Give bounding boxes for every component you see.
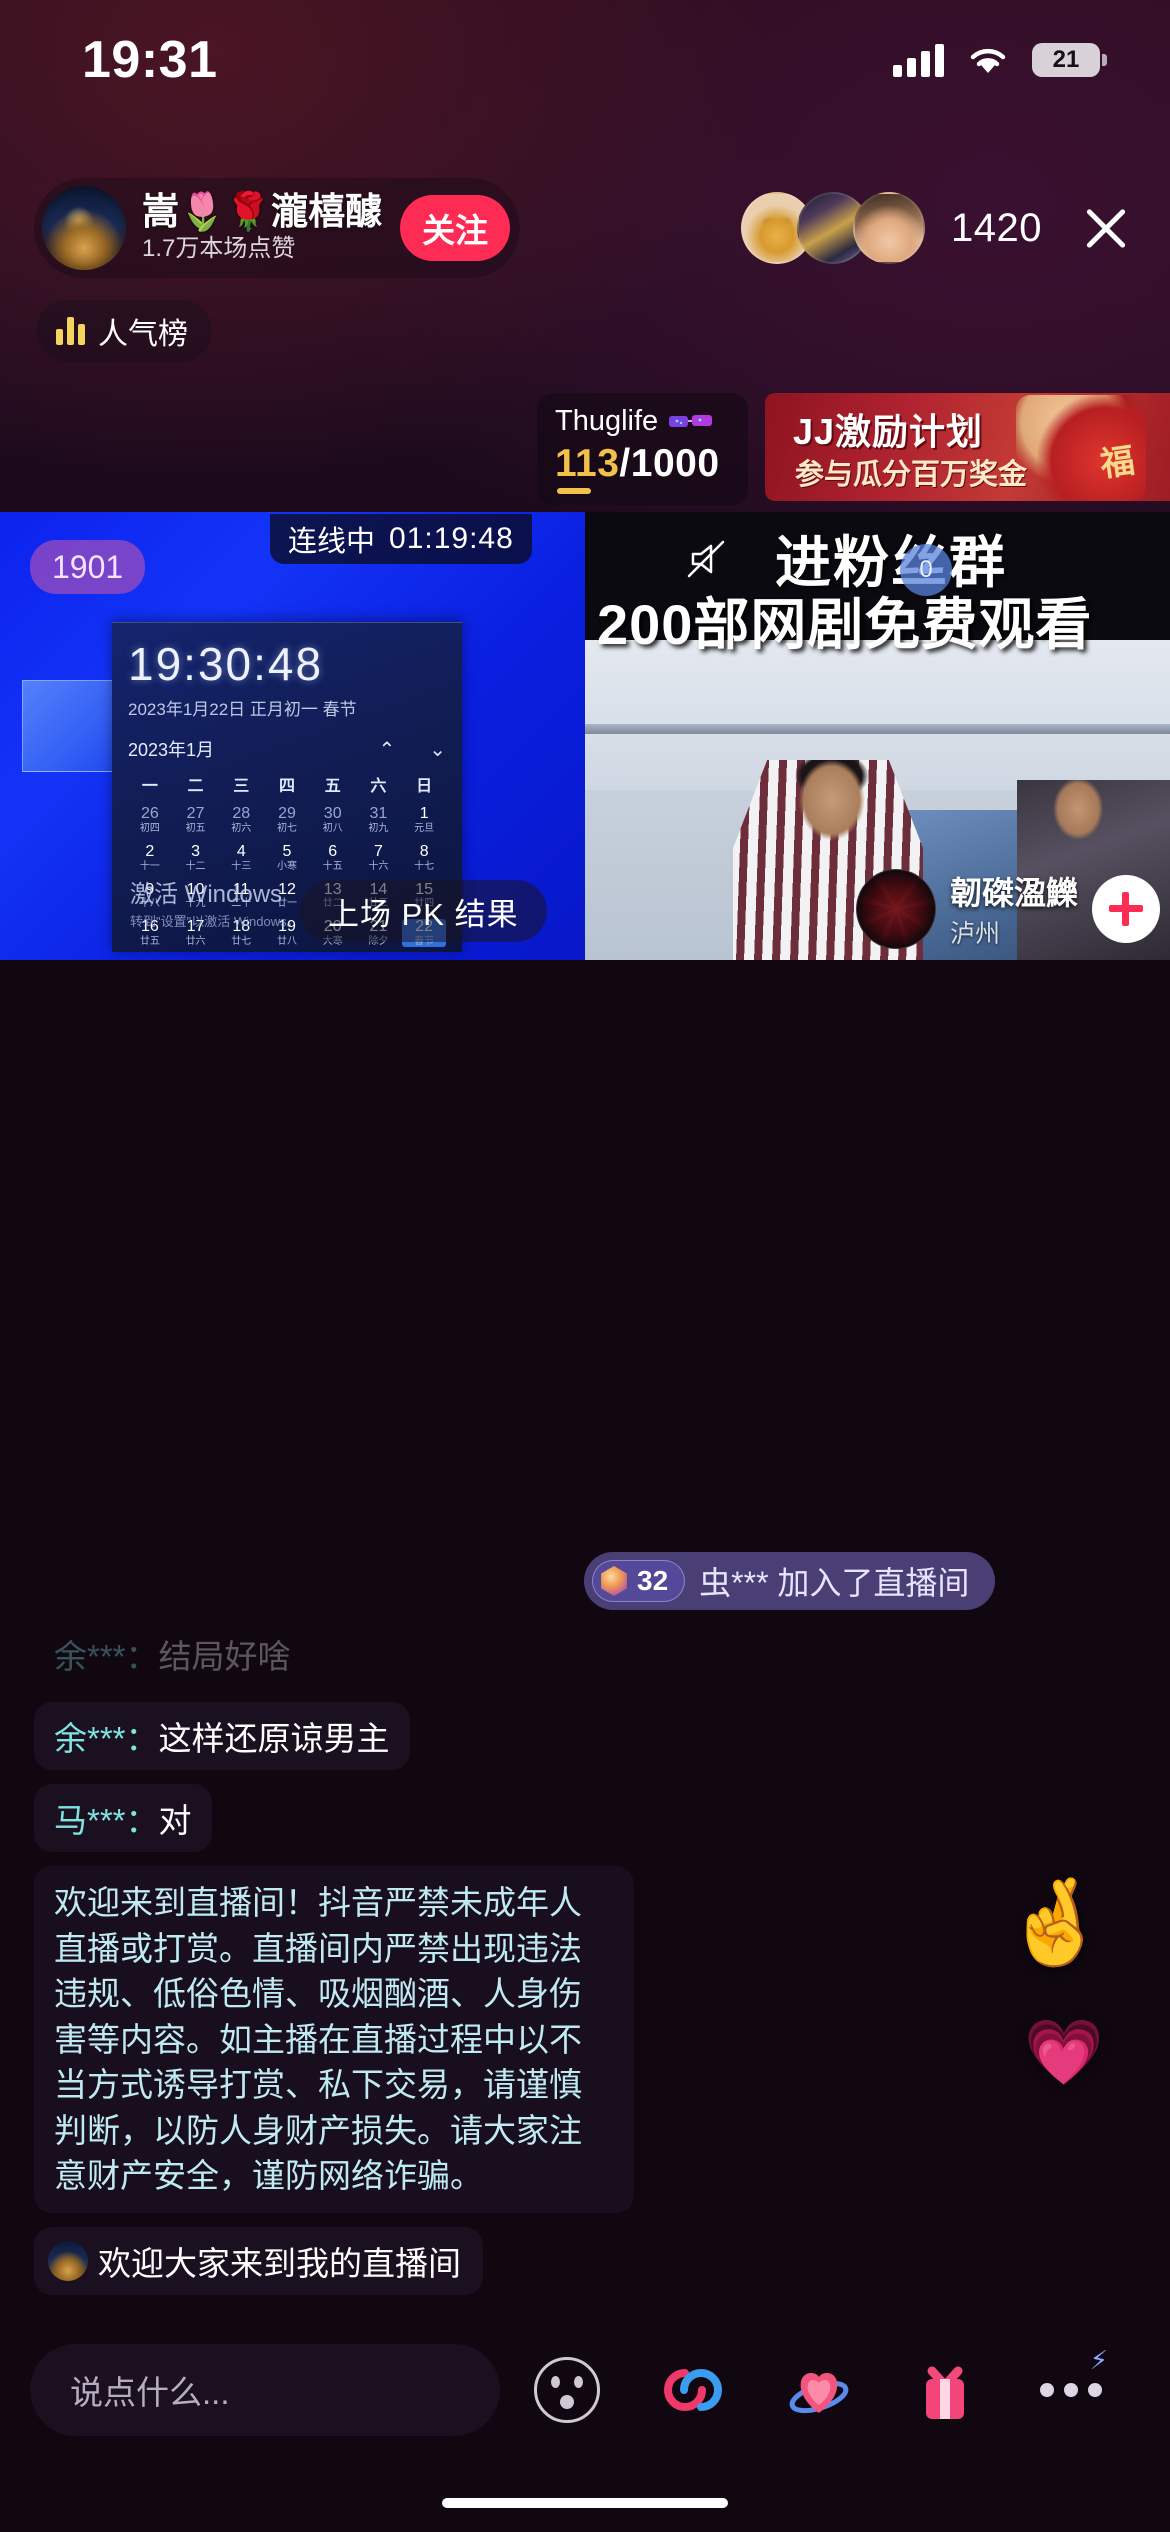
chat-row[interactable]: 欢迎来到直播间！抖音严禁未成年人直播或打赏。直播间内严禁出现违法违规、低俗色情、… xyxy=(34,1866,654,2213)
chat-text: 这样还原谅男主 xyxy=(159,1720,390,1757)
gift-box-icon xyxy=(908,2353,982,2427)
calendar-day-lunar: 十五 xyxy=(311,861,355,872)
calendar-day-cell[interactable]: 8十七 xyxy=(402,844,446,872)
calendar-day-lunar: 十二 xyxy=(174,861,218,872)
toolbar-icons: ⚡ xyxy=(524,2347,1140,2433)
chat-row[interactable]: 余***：这样还原谅男主 xyxy=(34,1702,654,1770)
chat-row[interactable]: 马***：对 xyxy=(34,1784,654,1852)
heart-reaction-icon: 💗 xyxy=(1024,2020,1104,2084)
fortune-god-icon: 福 xyxy=(1016,395,1146,501)
calendar-day-lunar: 初七 xyxy=(265,823,309,834)
calendar-day-number: 8 xyxy=(402,844,446,861)
home-indicator xyxy=(442,2498,728,2508)
incentive-plan-banner[interactable]: JJ激励计划 参与瓜分百万奖金 福 xyxy=(765,393,1170,501)
calendar-day-lunar: 十六 xyxy=(357,861,401,872)
pk-score-badge: 1901 xyxy=(30,540,145,594)
calendar-day-number: 29 xyxy=(265,806,309,823)
calendar-day-lunar: 廿八 xyxy=(265,936,309,947)
calendar-day-lunar: 廿五 xyxy=(128,936,172,947)
calendar-weekday-label: 一 xyxy=(128,772,172,796)
pk-pane-right[interactable]: 进粉丝群 200部网剧免费观看 0 韌磔溋鱳 泸州 xyxy=(585,512,1170,960)
popularity-rank-badge[interactable]: 人气榜 xyxy=(36,300,212,362)
calendar-day-cell[interactable]: 3十二 xyxy=(174,844,218,872)
level-badge: 32 xyxy=(592,1560,685,1602)
cellular-icon xyxy=(893,43,944,77)
pk-video-stage[interactable]: 1901 究竟怎样的收场 19:30:48 2023年1月22日 正月初一 春节… xyxy=(0,512,1170,960)
chat-bubble: 余***：结局好啥 xyxy=(34,1620,311,1688)
viewer-count[interactable]: 1420 xyxy=(951,206,1042,251)
calendar-day-number: 3 xyxy=(174,844,218,861)
calendar-day-lunar: 初四 xyxy=(128,823,172,834)
windows-date: 2023年1月22日 正月初一 春节 xyxy=(128,695,446,720)
pk-result-button[interactable]: 上场 PK 结果 xyxy=(300,880,547,942)
calendar-day-lunar: 十三 xyxy=(219,861,263,872)
calendar-day-lunar: 十七 xyxy=(402,861,446,872)
calendar-day-cell[interactable]: 31初九 xyxy=(357,806,401,834)
calendar-day-number: 28 xyxy=(219,806,263,823)
level-number: 32 xyxy=(637,1565,668,1597)
chat-message-list[interactable]: 余***：结局好啥余***：这样还原谅男主马***：对 欢迎来到直播间！抖音严禁… xyxy=(34,1620,654,2309)
mute-icon[interactable] xyxy=(683,536,729,582)
calendar-day-number: 31 xyxy=(357,806,401,823)
guest-avatar[interactable] xyxy=(856,869,936,949)
live-header: 嵩🌷🌹瀧橲醵 1.7万本场点赞 关注 1420 xyxy=(0,176,1170,280)
streamer-avatar-small xyxy=(48,2241,88,2281)
calendar-weekday-row: 一二三四五六日 xyxy=(128,772,446,796)
viewer-area: 1420 xyxy=(741,192,1134,264)
calendar-day-cell[interactable]: 4十三 xyxy=(219,844,263,872)
calendar-weekday-label: 五 xyxy=(311,772,355,796)
level-gem-icon xyxy=(599,1566,629,1596)
calendar-weekday: 三 xyxy=(219,772,263,796)
activate-title: 激活 Windows xyxy=(130,874,300,909)
windows-activation-notice: 激活 Windows 转到"设置"以激活 Windows。 xyxy=(130,874,300,930)
status-time: 19:31 xyxy=(82,30,218,90)
pk-status-label: 连线中 xyxy=(288,518,375,560)
gift-button[interactable] xyxy=(902,2347,988,2433)
bottom-toolbar: 说点什么... xyxy=(0,2334,1170,2446)
calendar-day-cell[interactable]: 28初六 xyxy=(219,806,263,834)
calendar-day-cell[interactable]: 5小寒 xyxy=(265,844,309,872)
calendar-day-cell[interactable]: 29初七 xyxy=(265,806,309,834)
guest-name: 韌磔溋鱳 xyxy=(950,868,1078,914)
calendar-weekday-label: 日 xyxy=(402,772,446,796)
calendar-weekday-label: 三 xyxy=(219,772,263,796)
calendar-day-lunar: 十一 xyxy=(128,861,172,872)
thuglife-score: 113/1000 xyxy=(555,442,732,486)
calendar-weekday-label: 六 xyxy=(357,772,401,796)
hand-reaction-icon: 🤞 xyxy=(1003,1880,1108,1964)
chat-row[interactable]: 余***：结局好啥 xyxy=(34,1620,654,1688)
chat-username: 余***： xyxy=(54,1638,159,1675)
calendar-day-number: 7 xyxy=(357,844,401,861)
chat-row[interactable]: 欢迎大家来到我的直播间 xyxy=(34,2227,654,2295)
scene-rail xyxy=(585,724,1170,734)
calendar-weekday: 日 xyxy=(402,772,446,796)
guest-info-card[interactable]: 韌磔溋鱳 泸州 xyxy=(856,868,1160,950)
calendar-day-number: 1 xyxy=(402,806,446,823)
calendar-month: 2023年1月 xyxy=(128,736,214,762)
chat-username: 马***： xyxy=(54,1802,159,1839)
status-bar: 19:31 21 xyxy=(0,0,1170,120)
more-button[interactable]: ⚡ xyxy=(1028,2347,1114,2433)
calendar-weekday: 一 xyxy=(128,772,172,796)
calendar-day-lunar: 初五 xyxy=(174,823,218,834)
calendar-weekday: 五 xyxy=(311,772,355,796)
thuglife-progress-card[interactable]: Thuglife 113/1000 xyxy=(537,393,748,505)
live-stream-screen: 19:31 21 嵩🌷🌹瀧橲醵 1.7万本场点赞 关注 xyxy=(0,0,1170,2532)
more-dots-icon xyxy=(1040,2383,1102,2397)
calendar-day-number: 5 xyxy=(265,844,309,861)
calendar-day-cell[interactable]: 2十一 xyxy=(128,844,172,872)
calendar-week-row: 2十一3十二4十三5小寒6十五7十六8十七 xyxy=(128,844,446,872)
calendar-day-number: 2 xyxy=(128,844,172,861)
lightning-icon: ⚡ xyxy=(1090,2345,1108,2376)
calendar-day-number: 27 xyxy=(174,806,218,823)
share-button[interactable] xyxy=(650,2347,736,2433)
chat-bubble: 余***：这样还原谅男主 xyxy=(34,1702,410,1770)
calendar-weekday: 四 xyxy=(265,772,309,796)
thuglife-max: 1000 xyxy=(631,442,720,485)
pk-connection-timer: 连线中 01:19:48 xyxy=(270,514,532,564)
welcome-text: 欢迎大家来到我的直播间 xyxy=(98,2237,461,2285)
viewer-avatar-list[interactable] xyxy=(741,192,925,264)
calendar-weekday: 二 xyxy=(174,772,218,796)
status-indicators: 21 xyxy=(893,43,1100,77)
right-overlay-counter: 0 xyxy=(900,544,952,596)
chat-bubble: 马***：对 xyxy=(34,1784,212,1852)
chat-text: 对 xyxy=(159,1802,192,1839)
wifi-icon xyxy=(966,43,1010,77)
activate-subtitle: 转到"设置"以激活 Windows。 xyxy=(130,911,300,930)
follow-button[interactable]: 关注 xyxy=(400,195,510,261)
calendar-weekday-label: 四 xyxy=(265,772,309,796)
chevron-up-icon[interactable]: ⌃ xyxy=(378,737,395,762)
windows-logo-icon xyxy=(22,680,114,772)
windows-clock: 19:30:48 xyxy=(128,637,446,691)
calendar-week-row: 26初四27初五28初六29初七30初八31初九1元旦 xyxy=(128,806,446,834)
system-notice: 欢迎来到直播间！抖音严禁未成年人直播或打赏。直播间内严禁出现违法违规、低俗色情、… xyxy=(34,1866,634,2213)
calendar-day-cell[interactable]: 26初四 xyxy=(128,806,172,834)
calendar-day-cell[interactable]: 7十六 xyxy=(357,844,401,872)
thuglife-header: Thuglife xyxy=(555,405,732,438)
streamer-likes: 1.7万本场点赞 xyxy=(142,236,382,262)
calendar-day-number: 4 xyxy=(219,844,263,861)
streamer-info[interactable]: 嵩🌷🌹瀧橲醵 1.7万本场点赞 关注 xyxy=(34,178,520,278)
guest-meta: 韌磔溋鱳 泸州 xyxy=(950,868,1078,950)
welcome-message: 欢迎大家来到我的直播间 xyxy=(34,2227,483,2295)
thuglife-name: Thuglife xyxy=(555,405,658,438)
fu-character: 福 xyxy=(1097,433,1137,486)
calendar-day-cell[interactable]: 27初五 xyxy=(174,806,218,834)
guest-location: 泸州 xyxy=(950,914,1078,950)
emoji-button[interactable] xyxy=(524,2347,610,2433)
thuglife-current: 113 xyxy=(555,442,619,485)
calendar-day-lunar: 元旦 xyxy=(402,823,446,834)
calendar-weekday-label: 二 xyxy=(174,772,218,796)
heart-gift-icon xyxy=(782,2353,856,2427)
viewer-avatar[interactable] xyxy=(853,192,925,264)
emoji-icon xyxy=(534,2357,600,2423)
battery-level: 21 xyxy=(1053,46,1080,74)
calendar-day-lunar: 小寒 xyxy=(265,861,309,872)
calendar-day-cell[interactable]: 30初八 xyxy=(311,806,355,834)
chat-rows: 余***：结局好啥余***：这样还原谅男主马***：对 xyxy=(34,1620,654,1852)
calendar-day-lunar: 廿六 xyxy=(174,936,218,947)
streamer-name: 嵩🌷🌹瀧橲醵 xyxy=(142,193,382,232)
popularity-rank-label: 人气榜 xyxy=(98,309,188,353)
calendar-day-number: 26 xyxy=(128,806,172,823)
chevron-down-icon[interactable]: ⌄ xyxy=(429,737,446,762)
battery-icon: 21 xyxy=(1032,43,1100,77)
calendar-day-lunar: 初六 xyxy=(219,823,263,834)
close-icon[interactable] xyxy=(1078,200,1134,256)
right-overlay-subtitle: 200部网剧免费观看 xyxy=(597,580,1092,661)
calendar-day-lunar: 初九 xyxy=(357,823,401,834)
calendar-day-cell[interactable]: 6十五 xyxy=(311,844,355,872)
link-rings-icon xyxy=(656,2353,730,2427)
ad-title: JJ激励计划 xyxy=(793,403,983,455)
calendar-day-cell[interactable]: 1元旦 xyxy=(402,806,446,834)
chat-text: 结局好啥 xyxy=(159,1638,291,1675)
bar-chart-icon xyxy=(56,317,85,345)
like-button[interactable] xyxy=(776,2347,862,2433)
calendar-day-lunar: 初八 xyxy=(311,823,355,834)
join-text: 虫*** 加入了直播间 xyxy=(699,1558,969,1604)
plus-icon[interactable] xyxy=(1092,875,1160,943)
calendar-day-lunar: 廿七 xyxy=(219,936,263,947)
sunglasses-icon xyxy=(668,412,714,432)
calendar-header: 2023年1月 ⌃ ⌄ xyxy=(128,736,446,762)
ad-subtitle: 参与瓜分百万奖金 xyxy=(795,451,1027,493)
streamer-text: 嵩🌷🌹瀧橲醵 1.7万本场点赞 xyxy=(142,193,382,262)
calendar-day-number: 30 xyxy=(311,806,355,823)
chat-username: 余***： xyxy=(54,1720,159,1757)
calendar-day-number: 6 xyxy=(311,844,355,861)
pk-timer-value: 01:19:48 xyxy=(389,522,514,556)
join-notification[interactable]: 32 虫*** 加入了直播间 xyxy=(584,1552,995,1610)
calendar-nav[interactable]: ⌃ ⌄ xyxy=(378,737,446,762)
thuglife-sep: / xyxy=(619,442,630,485)
streamer-avatar[interactable] xyxy=(42,186,126,270)
comment-input[interactable]: 说点什么... xyxy=(30,2344,500,2436)
calendar-weekday: 六 xyxy=(357,772,401,796)
